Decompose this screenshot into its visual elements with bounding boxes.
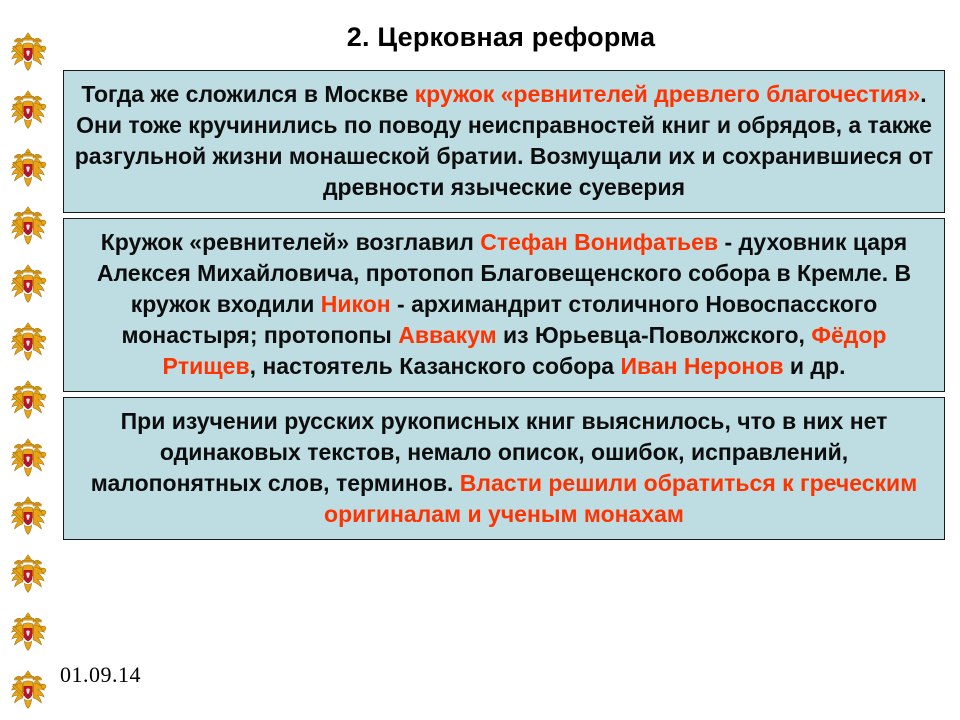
highlighted-text: кружок «ревнителей древлего благочестия»: [415, 81, 921, 107]
emblem-strip: [0, 0, 56, 720]
double-headed-eagle-icon: [5, 320, 51, 366]
double-headed-eagle-icon: [5, 378, 51, 424]
body-text: Кружок «ревнителей» возглавил: [101, 229, 481, 255]
double-headed-eagle-icon: [5, 610, 51, 656]
double-headed-eagle-icon: [5, 30, 51, 76]
double-headed-eagle-icon: [5, 436, 51, 482]
double-headed-eagle-icon: [5, 146, 51, 192]
highlighted-text: Стефан Вонифатьев: [480, 229, 718, 255]
box-circle-members: Кружок «ревнителей» возглавил Стефан Вон…: [63, 218, 945, 392]
highlighted-text: Аввакум: [398, 322, 496, 348]
box-zealots-circle: Тогда же сложился в Москве кружок «ревни…: [63, 70, 945, 213]
box-manuscript-study: При изучении русских рукописных книг выя…: [63, 397, 945, 540]
body-text: и др.: [784, 353, 846, 379]
double-headed-eagle-icon: [5, 552, 51, 598]
highlighted-text: Иван Неронов: [620, 353, 783, 379]
double-headed-eagle-icon: [5, 204, 51, 250]
double-headed-eagle-icon: [5, 668, 51, 714]
double-headed-eagle-icon: [5, 88, 51, 134]
slide-canvas: 2. Церковная реформа Тогда же сложился в…: [0, 0, 960, 720]
body-text: Тогда же сложился в Москве: [81, 81, 414, 107]
page-title: 2. Церковная реформа: [56, 20, 946, 54]
double-headed-eagle-icon: [5, 262, 51, 308]
body-text: , настоятель Казанского собора: [250, 353, 621, 379]
content-box-stack: Тогда же сложился в Москве кружок «ревни…: [63, 70, 945, 540]
double-headed-eagle-icon: [5, 494, 51, 540]
body-text: из Юрьевца-Поволжского,: [497, 322, 812, 348]
footer-date: 01.09.14: [60, 662, 141, 688]
highlighted-text: Никон: [321, 291, 391, 317]
